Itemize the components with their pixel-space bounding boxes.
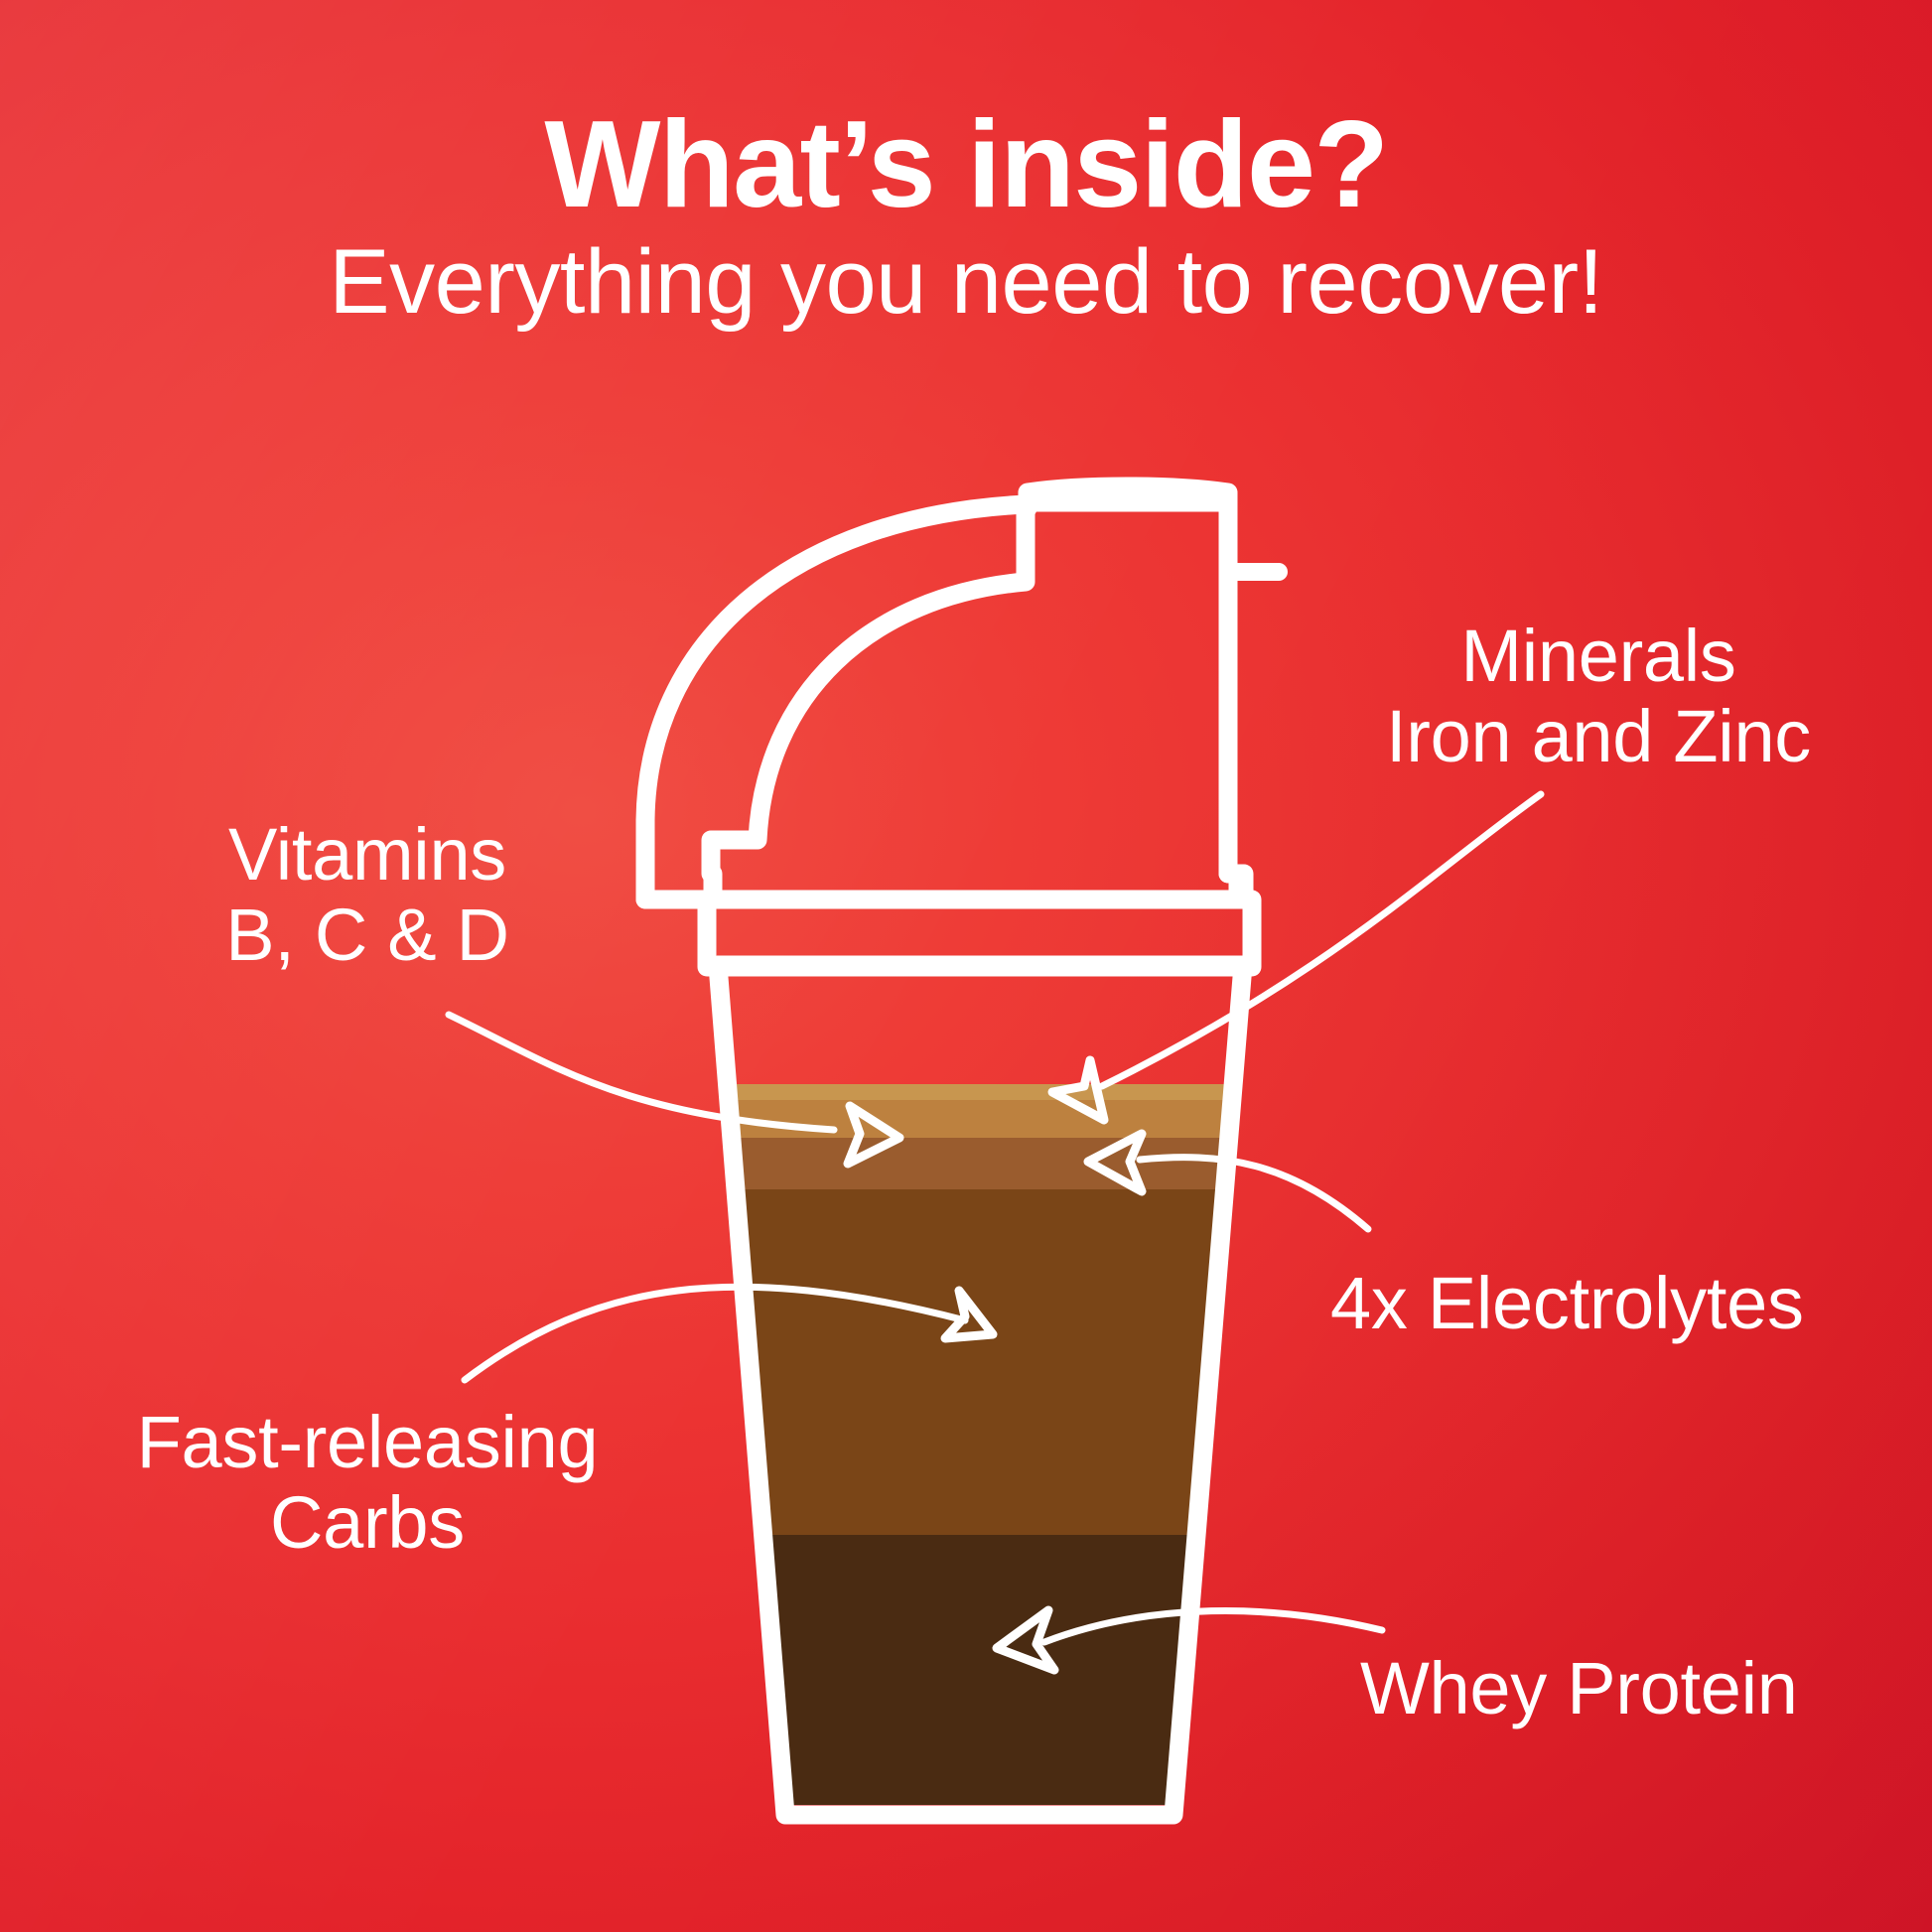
leader-line-minerals bbox=[1102, 794, 1541, 1086]
poster-canvas: What’s inside? Everything you need to re… bbox=[0, 0, 1932, 1932]
page-subtitle: Everything you need to recover! bbox=[0, 236, 1932, 328]
liquid-layer-light-tan bbox=[675, 1100, 1271, 1138]
callout-label-fast-releasing-carbs: Fast-releasing Carbs bbox=[60, 1402, 675, 1564]
callout-label-minerals: Minerals Iron and Zinc bbox=[1281, 616, 1916, 777]
page-title: What’s inside? bbox=[0, 103, 1932, 226]
callout-label-whey-protein: Whey Protein bbox=[1360, 1648, 1932, 1728]
callout-label-vitamins: Vitamins B, C & D bbox=[109, 814, 625, 976]
callout-label-electrolytes: 4x Electrolytes bbox=[1330, 1263, 1926, 1343]
liquid-layer-medium-brown bbox=[675, 1138, 1271, 1189]
liquid-layer-top-foam bbox=[675, 1084, 1271, 1100]
